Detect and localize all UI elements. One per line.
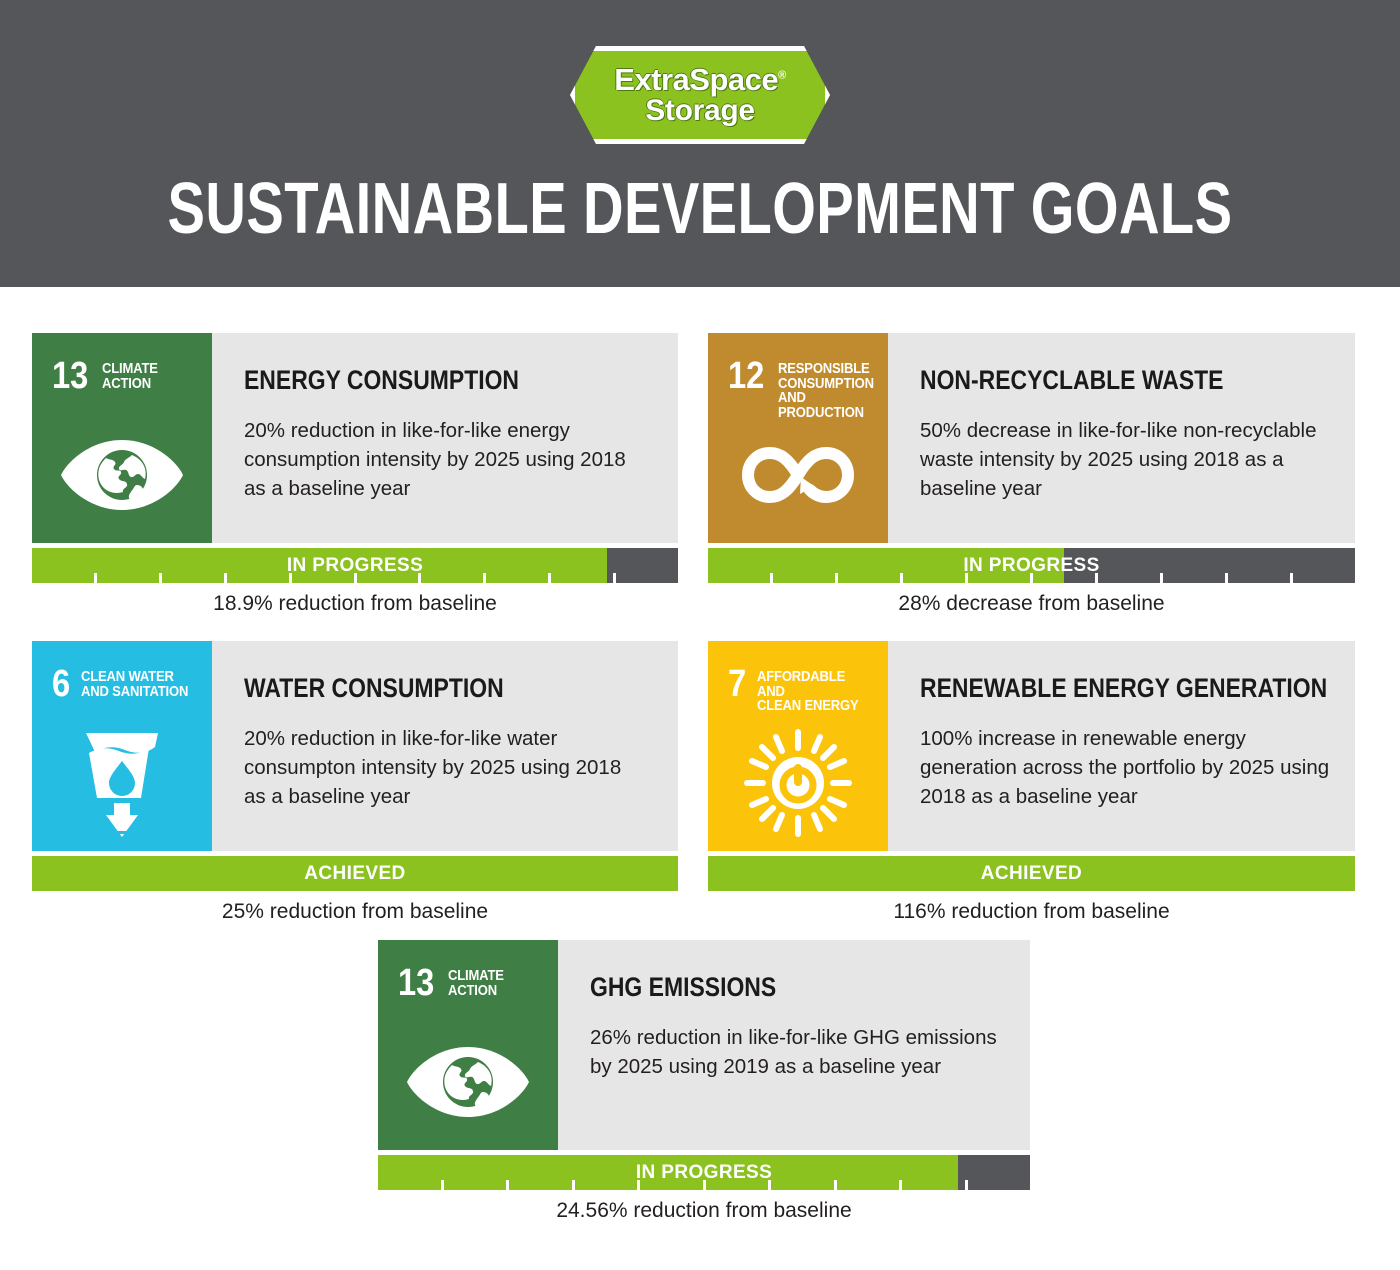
status-badge: IN PROGRESS xyxy=(378,1155,1030,1190)
sdg-number: 7 xyxy=(728,669,746,700)
goal-card-body: 13 CLIMATE ACTION ENERGY CONSUMPTION 20%… xyxy=(32,333,678,543)
sdg-tile: 13 CLIMATE ACTION xyxy=(32,333,212,543)
sdg-tile-heading: 13 CLIMATE ACTION xyxy=(32,333,212,392)
page-header: ExtraSpace® Storage SUSTAINABLE DEVELOPM… xyxy=(0,0,1400,287)
goal-text-block: NON-RECYCLABLE WASTE 50% decrease in lik… xyxy=(888,333,1355,543)
goal-card: 12 RESPONSIBLE CONSUMPTION AND PRODUCTIO… xyxy=(708,333,1355,616)
goal-title: GHG EMISSIONS xyxy=(590,972,939,1003)
goal-card: 7 AFFORDABLE AND CLEAN ENERGY xyxy=(708,641,1355,924)
goal-card-body: 6 CLEAN WATER AND SANITATION WATER CONSU… xyxy=(32,641,678,851)
goal-text-block: WATER CONSUMPTION 20% reduction in like-… xyxy=(212,641,678,851)
goal-caption: 28% decrease from baseline xyxy=(708,583,1355,616)
goal-description: 20% reduction in like-for-like water con… xyxy=(244,724,648,811)
goal-card-body: 13 CLIMATE ACTION GHG EMISSIONS 26% redu… xyxy=(378,940,1030,1150)
sdg-number: 13 xyxy=(398,968,434,999)
sdg-tile: 6 CLEAN WATER AND SANITATION xyxy=(32,641,212,851)
logo-text-storage: Storage xyxy=(645,96,755,127)
goal-text-block: RENEWABLE ENERGY GENERATION 100% increas… xyxy=(888,641,1400,851)
goal-title: WATER CONSUMPTION xyxy=(244,673,587,704)
goal-text-block: ENERGY CONSUMPTION 20% reduction in like… xyxy=(212,333,678,543)
sdg-label: AFFORDABLE AND CLEAN ENERGY xyxy=(757,669,875,714)
sdg-number: 13 xyxy=(52,361,88,392)
sdg-tile-heading: 13 CLIMATE ACTION xyxy=(378,940,558,999)
progress-bar: ACHIEVED xyxy=(32,856,678,891)
goal-card-body: 12 RESPONSIBLE CONSUMPTION AND PRODUCTIO… xyxy=(708,333,1355,543)
goal-card-body: 7 AFFORDABLE AND CLEAN ENERGY xyxy=(708,641,1355,851)
progress-bar: ACHIEVED xyxy=(708,856,1355,891)
sdg-glyph xyxy=(32,425,212,525)
goal-caption: 18.9% reduction from baseline xyxy=(32,583,678,616)
goal-card: 13 CLIMATE ACTION ENERGY CONSUMPTION 20%… xyxy=(32,333,678,616)
page-title: SUSTAINABLE DEVELOPMENT GOALS xyxy=(154,168,1246,250)
sdg-label: RESPONSIBLE CONSUMPTION AND PRODUCTION xyxy=(778,361,877,420)
sdg-label: CLIMATE ACTION xyxy=(448,968,504,998)
infinity-arrow-icon xyxy=(734,440,862,510)
goal-description: 100% increase in renewable energy genera… xyxy=(920,724,1340,811)
logo-text-primary: ExtraSpace® xyxy=(614,64,786,96)
goals-board: 13 CLIMATE ACTION ENERGY CONSUMPTION 20%… xyxy=(0,287,1400,1270)
logo-shield-shape: ExtraSpace® Storage xyxy=(570,46,830,144)
goal-caption: 24.56% reduction from baseline xyxy=(378,1190,1030,1223)
sdg-number: 12 xyxy=(728,361,764,392)
goal-title: ENERGY CONSUMPTION xyxy=(244,365,587,396)
goal-title: NON-RECYCLABLE WASTE xyxy=(920,365,1264,396)
sdg-label: CLEAN WATER AND SANITATION xyxy=(81,669,188,699)
sdg-tile: 12 RESPONSIBLE CONSUMPTION AND PRODUCTIO… xyxy=(708,333,888,543)
progress-bar: IN PROGRESS xyxy=(708,548,1355,583)
sdg-tile-heading: 6 CLEAN WATER AND SANITATION xyxy=(32,641,212,700)
sdg-label: CLIMATE ACTION xyxy=(102,361,158,391)
sdg-glyph xyxy=(32,733,212,833)
sdg-glyph xyxy=(378,1032,558,1132)
sdg-tile: 7 AFFORDABLE AND CLEAN ENERGY xyxy=(708,641,888,851)
goal-description: 26% reduction in like-for-like GHG emiss… xyxy=(590,1023,1000,1081)
status-badge: IN PROGRESS xyxy=(32,548,678,583)
sdg-tile: 13 CLIMATE ACTION xyxy=(378,940,558,1150)
water-glass-drop-icon xyxy=(74,727,170,839)
goal-description: 50% decrease in like-for-like non-recycl… xyxy=(920,416,1325,503)
sdg-tile-heading: 7 AFFORDABLE AND CLEAN ENERGY xyxy=(708,641,888,714)
sdg-tile-heading: 12 RESPONSIBLE CONSUMPTION AND PRODUCTIO… xyxy=(708,333,888,420)
goal-card: 13 CLIMATE ACTION GHG EMISSIONS 26% redu… xyxy=(378,940,1030,1223)
sdg-number: 6 xyxy=(52,669,70,700)
registered-trademark-icon: ® xyxy=(778,70,786,82)
sun-power-icon xyxy=(743,728,853,838)
progress-bar: IN PROGRESS xyxy=(32,548,678,583)
sdg-glyph xyxy=(708,425,888,525)
logo-text-extraspace: ExtraSpace xyxy=(614,62,778,97)
climate-eye-globe-icon xyxy=(59,438,185,512)
climate-eye-globe-icon xyxy=(405,1045,531,1119)
progress-bar: IN PROGRESS xyxy=(378,1155,1030,1190)
goal-caption: 25% reduction from baseline xyxy=(32,891,678,924)
goal-card: 6 CLEAN WATER AND SANITATION WATER CONSU… xyxy=(32,641,678,924)
status-badge: IN PROGRESS xyxy=(708,548,1355,583)
brand-logo: ExtraSpace® Storage xyxy=(570,46,830,144)
status-badge: ACHIEVED xyxy=(708,856,1355,891)
goal-text-block: GHG EMISSIONS 26% reduction in like-for-… xyxy=(558,940,1030,1150)
sdg-glyph xyxy=(708,733,888,833)
goal-description: 20% reduction in like-for-like energy co… xyxy=(244,416,648,503)
status-badge: ACHIEVED xyxy=(32,856,678,891)
goal-title: RENEWABLE ENERGY GENERATION xyxy=(920,673,1327,704)
goal-caption: 116% reduction from baseline xyxy=(708,891,1355,924)
